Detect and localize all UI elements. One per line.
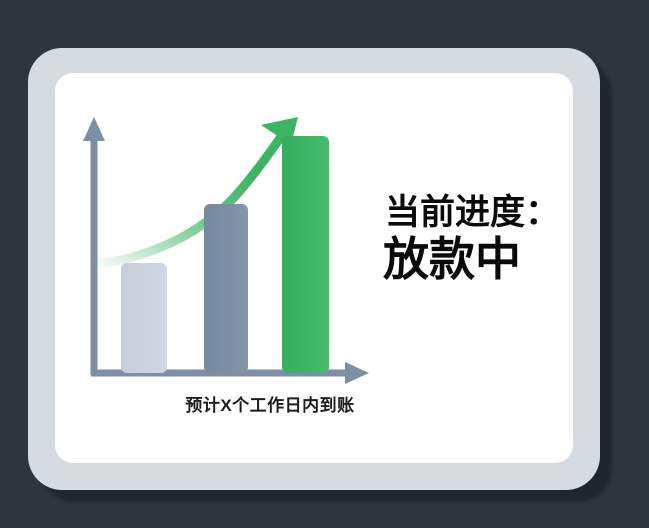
progress-status-value: 放款中 — [383, 234, 575, 286]
trend-up-arrow-icon — [88, 117, 298, 265]
y-axis — [83, 117, 105, 375]
progress-headline: 当前进度： 放款中 — [385, 193, 575, 286]
screenshot-canvas: 当前进度： 放款中 预计X个工作日内到账 — [0, 0, 649, 528]
card-inner-panel: 当前进度： 放款中 预计X个工作日内到账 — [55, 73, 573, 463]
progress-label: 当前进度： — [385, 193, 575, 232]
arrow-right-icon — [345, 362, 369, 384]
bar-stage-3 — [282, 136, 329, 373]
arrow-up-icon — [83, 117, 105, 141]
bar-stage-2 — [204, 204, 248, 373]
growth-bar-chart — [55, 73, 385, 403]
eta-caption: 预计X个工作日内到账 — [95, 391, 445, 416]
bar-stage-1 — [121, 263, 167, 373]
chart-svg — [55, 73, 385, 403]
progress-card: 当前进度： 放款中 预计X个工作日内到账 — [28, 48, 600, 490]
